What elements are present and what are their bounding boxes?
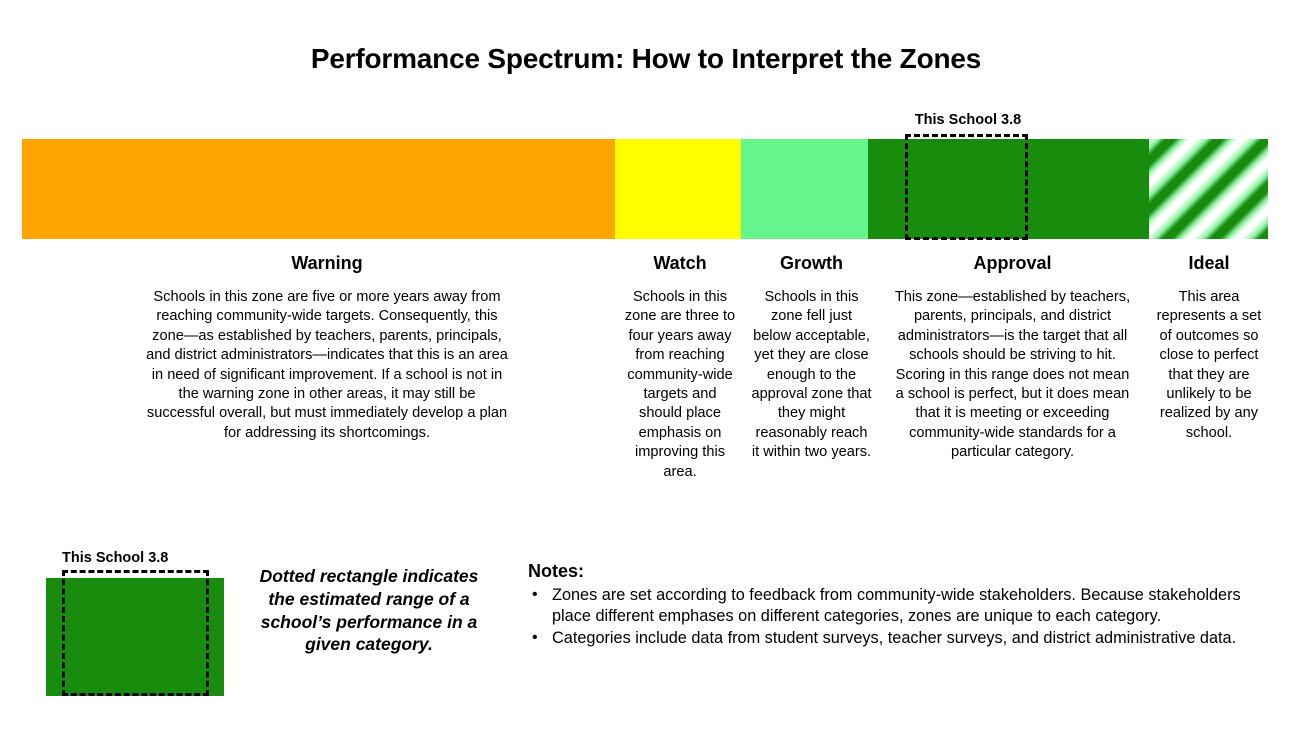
zone-column-ideal: Ideal This area represents a set of outc… [1153, 253, 1265, 443]
school-range-marker [905, 134, 1028, 240]
zone-description-approval: This zone—established by teachers, paren… [890, 288, 1135, 463]
zone-heading-growth: Growth [750, 253, 873, 274]
zone-heading-watch: Watch [620, 253, 740, 274]
legend-dashed-rectangle [62, 570, 209, 696]
zone-band-ideal [1149, 139, 1268, 239]
notes-item: • Categories include data from student s… [528, 628, 1244, 649]
zone-band-warning [22, 139, 615, 239]
page-title: Performance Spectrum: How to Interpret t… [0, 43, 1292, 75]
notes-item-text: Zones are set according to feedback from… [552, 586, 1241, 625]
zone-column-warning: Warning Schools in this zone are five or… [146, 253, 508, 443]
bullet-icon: • [532, 628, 538, 648]
zone-description-growth: Schools in this zone fell just below acc… [750, 288, 873, 463]
bullet-icon: • [532, 585, 538, 605]
zone-column-watch: Watch Schools in this zone are three to … [620, 253, 740, 482]
zone-description-ideal: This area represents a set of outcomes s… [1153, 288, 1265, 443]
notes-section: Notes: • Zones are set according to feed… [528, 561, 1244, 651]
notes-title: Notes: [528, 561, 1244, 582]
zone-heading-ideal: Ideal [1153, 253, 1265, 274]
zone-column-growth: Growth Schools in this zone fell just be… [750, 253, 873, 463]
legend-marker-label: This School 3.8 [62, 550, 168, 566]
notes-list: • Zones are set according to feedback fr… [528, 585, 1244, 649]
zone-description-warning: Schools in this zone are five or more ye… [146, 288, 508, 443]
zone-heading-warning: Warning [146, 253, 508, 274]
zone-heading-approval: Approval [890, 253, 1135, 274]
zone-column-approval: Approval This zone—established by teache… [890, 253, 1135, 463]
school-marker-label: This School 3.8 [903, 112, 1033, 128]
zone-band-watch [615, 139, 741, 239]
performance-spectrum-bar [22, 139, 1268, 239]
notes-item-text: Categories include data from student sur… [552, 629, 1236, 647]
legend-caption: Dotted rectangle indicates the estimated… [254, 565, 484, 656]
zone-band-growth [741, 139, 868, 239]
zone-description-watch: Schools in this zone are three to four y… [620, 288, 740, 482]
notes-item: • Zones are set according to feedback fr… [528, 585, 1244, 626]
